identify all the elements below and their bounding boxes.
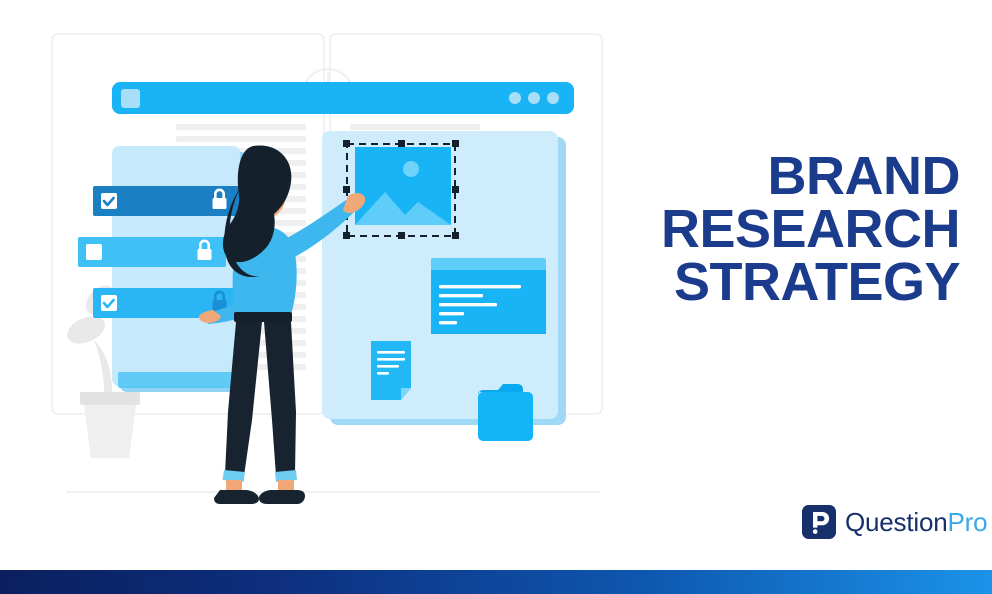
- folder-icon: [478, 384, 533, 441]
- browser-toolbar: [112, 82, 574, 114]
- checkbox-row-partial: [118, 372, 238, 388]
- headline-line-3: STRATEGY: [640, 256, 960, 309]
- footer-gradient-bar: [0, 570, 992, 594]
- hero-illustration: [0, 0, 640, 560]
- poster-canvas: BRAND RESEARCH STRATEGY QuestionPro: [0, 0, 992, 594]
- headline-line-2: RESEARCH: [640, 203, 960, 256]
- questionpro-logo[interactable]: QuestionPro: [802, 505, 987, 539]
- left-content-panel: [112, 146, 248, 392]
- text-card: [431, 258, 546, 334]
- selected-image-placeholder: [343, 140, 459, 239]
- page-title: BRAND RESEARCH STRATEGY: [640, 150, 960, 309]
- document-icon: [371, 341, 411, 400]
- checkbox-row-2: [78, 237, 226, 267]
- headline-line-1: BRAND: [640, 150, 960, 203]
- wordmark-question: Question: [845, 507, 947, 537]
- checkbox-row-1: [93, 186, 241, 216]
- wordmark-pro: Pro: [947, 507, 987, 537]
- questionpro-wordmark: QuestionPro: [845, 507, 987, 538]
- questionpro-p-logo-icon: [802, 505, 836, 539]
